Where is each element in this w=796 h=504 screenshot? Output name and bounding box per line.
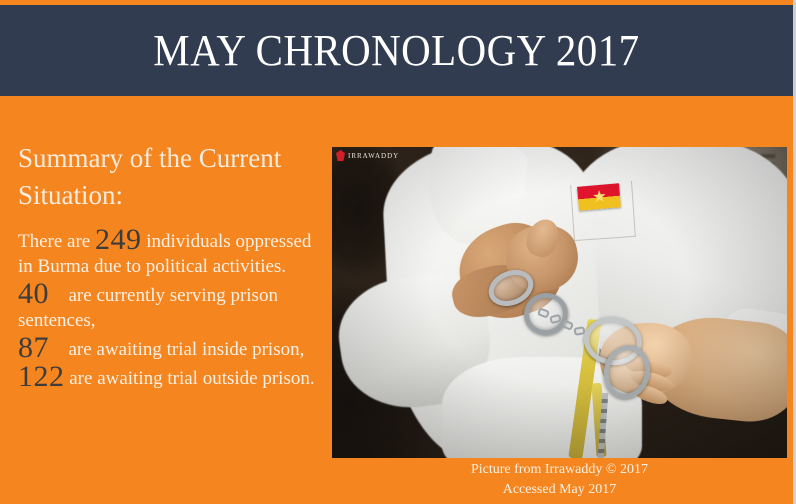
stat-text-trial-inside: are awaiting trial inside prison, xyxy=(69,339,305,360)
intro-count: 249 xyxy=(95,223,142,256)
slide-page: MAY CHRONOLOGY 2017 Summary of the Curre… xyxy=(0,0,796,504)
stat-number-serving: 40 xyxy=(18,277,49,310)
summary-column: Summary of the Current Situation: There … xyxy=(18,140,328,391)
irrawaddy-logo-icon xyxy=(336,150,345,161)
caption-line-accessed: Accessed May 2017 xyxy=(332,480,787,500)
stat-line-trial-inside: 87 are awaiting trial inside prison, xyxy=(18,335,328,362)
stat-text-trial-outside: are awaiting trial outside prison. xyxy=(69,368,314,389)
page-title: MAY CHRONOLOGY 2017 xyxy=(153,27,639,75)
photo-caption: Picture from Irrawaddy © 2017 Accessed M… xyxy=(332,460,787,500)
intro-before: There are xyxy=(18,231,90,252)
photo-handcuffed-detainee: POLICE IRRAWADDY xyxy=(332,147,787,458)
caption-line-source: Picture from Irrawaddy © 2017 xyxy=(332,460,787,480)
stat-text-serving: are currently serving prison sentences, xyxy=(18,285,278,331)
photo-watermark: IRRAWADDY xyxy=(336,150,399,161)
stat-line-trial-outside: 122 are awaiting trial outside prison. xyxy=(18,364,328,391)
summary-heading: Summary of the Current Situation: xyxy=(18,140,328,214)
stat-line-serving: 40 are currently serving prison sentence… xyxy=(18,281,328,333)
watermark-label: IRRAWADDY xyxy=(348,152,399,160)
stat-number-trial-outside: 122 xyxy=(18,360,65,393)
header-bar: MAY CHRONOLOGY 2017 xyxy=(0,5,793,96)
summary-intro-line: There are 249 individuals oppressed in B… xyxy=(18,227,328,279)
